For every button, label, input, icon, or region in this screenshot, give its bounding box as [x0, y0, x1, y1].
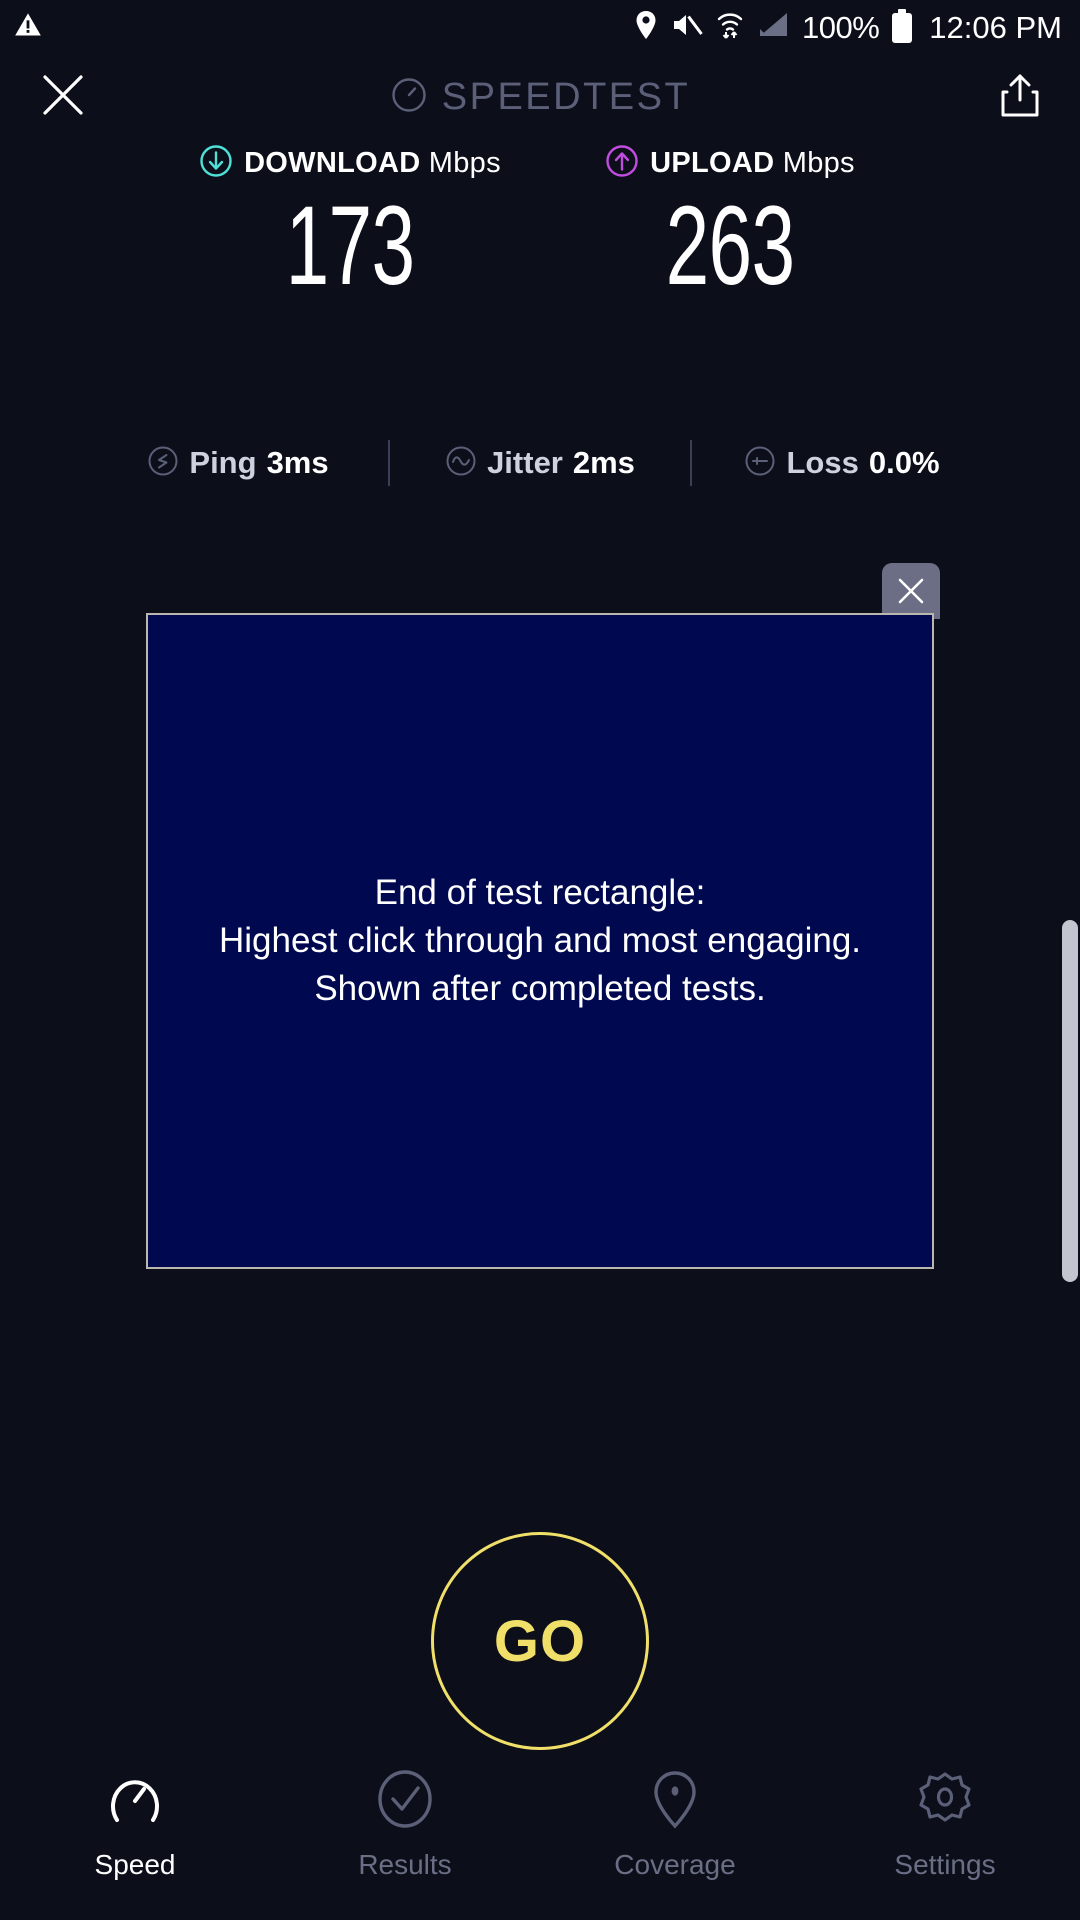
- nav-label-settings: Settings: [894, 1849, 995, 1881]
- upload-value: 263: [597, 194, 863, 298]
- bottom-navigation-bar: Speed Results Coverage: [0, 1750, 1080, 1920]
- ad-close-icon[interactable]: [882, 563, 940, 619]
- speedometer-icon: [104, 1768, 166, 1835]
- gear-icon: [914, 1768, 976, 1835]
- jitter-wave-icon: [445, 445, 477, 482]
- nav-label-results: Results: [358, 1849, 451, 1881]
- jitter-metric: Jitter 2ms: [390, 445, 690, 482]
- speedtest-gauge-icon: [390, 76, 428, 119]
- cell-signal-icon: [757, 11, 789, 44]
- loss-icon: [744, 445, 776, 482]
- download-header: DOWNLOAD Mbps: [160, 140, 540, 186]
- nav-item-speed[interactable]: Speed: [0, 1768, 270, 1881]
- nav-item-coverage[interactable]: Coverage: [540, 1768, 810, 1881]
- loss-label: Loss: [786, 445, 858, 481]
- status-bar: 100% 12:06 PM: [0, 0, 1080, 55]
- wifi-transfer-icon: [716, 10, 744, 45]
- location-pin-icon: [634, 10, 658, 45]
- go-button[interactable]: GO: [431, 1532, 649, 1750]
- download-label: DOWNLOAD Mbps: [244, 147, 501, 180]
- nav-label-coverage: Coverage: [614, 1849, 735, 1881]
- ad-line-2: Highest click through and most engaging.: [219, 917, 861, 965]
- nav-label-speed: Speed: [95, 1849, 176, 1881]
- results-panel: DOWNLOAD Mbps 173 UPLOAD Mbps 263: [0, 140, 1080, 298]
- volume-muted-icon: [671, 11, 703, 44]
- upload-label: UPLOAD Mbps: [650, 147, 855, 180]
- ping-metric: Ping 3ms: [88, 445, 388, 482]
- ping-label: Ping: [189, 445, 256, 481]
- ad-text: End of test rectangle: Highest click thr…: [219, 869, 861, 1013]
- battery-full-icon: [892, 13, 912, 43]
- advertisement-banner[interactable]: End of test rectangle: Highest click thr…: [146, 613, 934, 1269]
- share-icon[interactable]: [1000, 72, 1040, 123]
- warning-triangle-icon: [14, 11, 42, 44]
- header-title-group: SPEEDTEST: [0, 55, 1080, 140]
- download-upload-row: DOWNLOAD Mbps 173 UPLOAD Mbps 263: [0, 140, 1080, 298]
- battery-percent-label: 100%: [802, 10, 879, 46]
- close-icon[interactable]: [40, 72, 86, 123]
- ping-icon: [147, 445, 179, 482]
- upload-arrow-icon: [605, 144, 639, 183]
- status-bar-clock: 12:06 PM: [929, 10, 1062, 46]
- ad-line-3: Shown after completed tests.: [219, 965, 861, 1013]
- jitter-value: 2ms: [573, 445, 635, 481]
- ping-value: 3ms: [267, 445, 329, 481]
- go-button-label: GO: [494, 1608, 586, 1675]
- map-pin-icon: [644, 1768, 706, 1835]
- download-arrow-icon: [199, 144, 233, 183]
- page-scrollbar[interactable]: [1062, 920, 1078, 1282]
- loss-metric: Loss 0.0%: [692, 445, 992, 482]
- jitter-label: Jitter: [487, 445, 563, 481]
- loss-value: 0.0%: [869, 445, 940, 481]
- ping-jitter-loss-row: Ping 3ms Jitter 2ms: [0, 440, 1080, 486]
- upload-header: UPLOAD Mbps: [540, 140, 920, 186]
- download-value: 173: [217, 194, 483, 298]
- nav-item-results[interactable]: Results: [270, 1768, 540, 1881]
- nav-item-settings[interactable]: Settings: [810, 1768, 1080, 1881]
- upload-metric: UPLOAD Mbps 263: [540, 140, 920, 298]
- check-circle-icon: [374, 1768, 436, 1835]
- app-header: SPEEDTEST: [0, 55, 1080, 140]
- status-bar-right: 100% 12:06 PM: [634, 10, 1062, 46]
- download-metric: DOWNLOAD Mbps 173: [160, 140, 540, 298]
- speedtest-app-screen: 100% 12:06 PM SPEEDTEST: [0, 0, 1080, 1920]
- page-title: SPEEDTEST: [442, 76, 690, 119]
- ad-line-1: End of test rectangle:: [219, 869, 861, 917]
- status-bar-left: [14, 11, 42, 44]
